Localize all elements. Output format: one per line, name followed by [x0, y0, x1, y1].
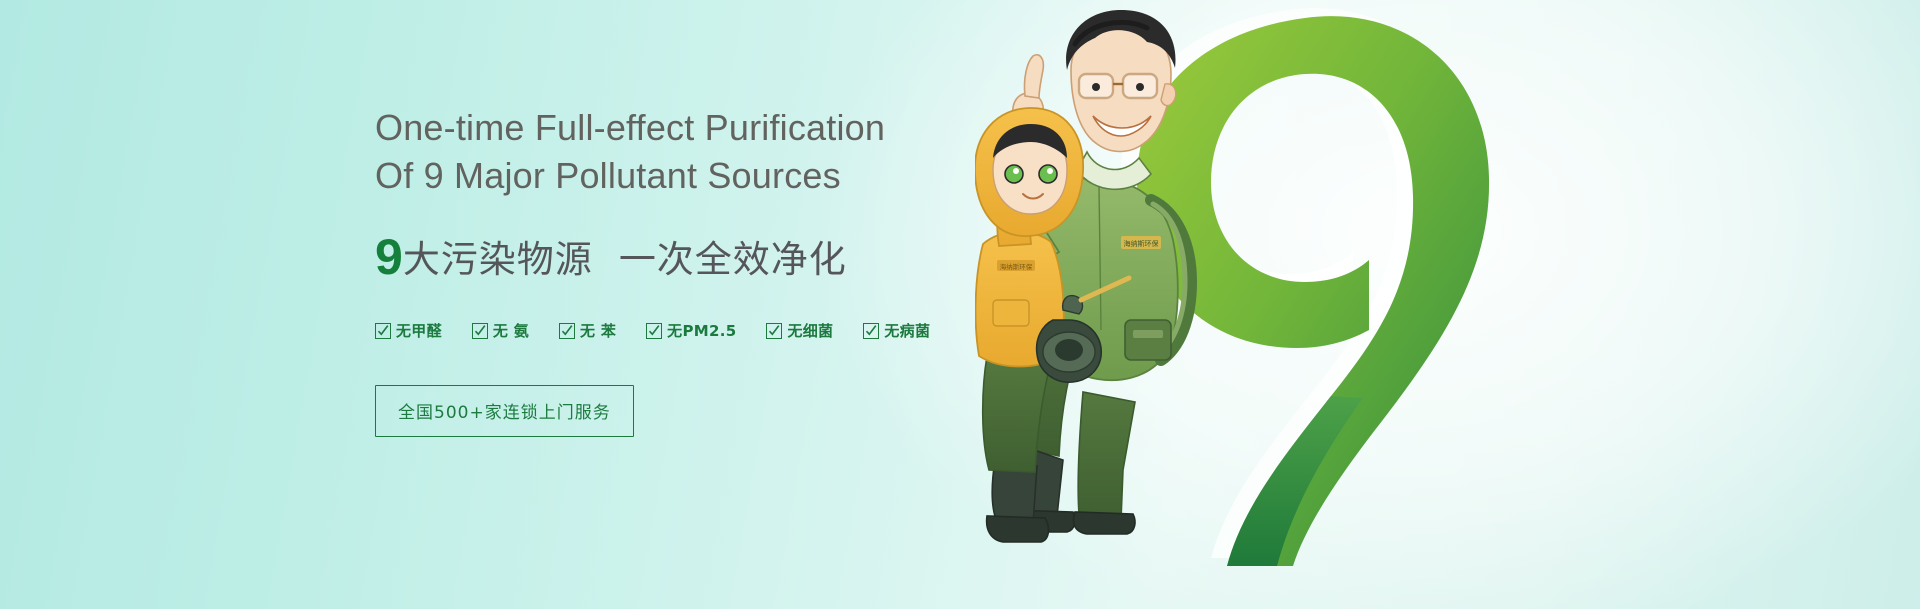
- check-box-icon: [766, 323, 782, 339]
- feature-badge: 无 苯: [559, 320, 616, 341]
- english-headline: One-time Full-effect Purification Of 9 M…: [375, 104, 1015, 200]
- service-cta-button[interactable]: 全国500+家连锁上门服务: [375, 385, 634, 437]
- feature-badge: 无 氨: [472, 320, 529, 341]
- feature-badge-label: 无 氨: [493, 320, 529, 341]
- feature-badge-list: 无甲醛 无 氨 无 苯 无PM2.5: [375, 320, 1015, 341]
- chinese-headline: 9大污染物源一次全效净化: [375, 232, 1015, 282]
- chinese-headline-number: 9: [375, 229, 403, 285]
- adult-badge-text: 海纳斯环保: [1124, 239, 1159, 248]
- illustration: 海纳斯环保: [975, 0, 1505, 609]
- check-box-icon: [863, 323, 879, 339]
- chinese-headline-part2: 一次全效净化: [619, 238, 847, 281]
- feature-badge-label: 无甲醛: [396, 320, 442, 341]
- child-badge-text: 海纳斯环保: [1000, 262, 1033, 271]
- promo-banner: One-time Full-effect Purification Of 9 M…: [0, 0, 1920, 609]
- check-box-icon: [646, 323, 662, 339]
- feature-badge: 无细菌: [766, 320, 833, 341]
- english-headline-line1: One-time Full-effect Purification: [375, 107, 885, 148]
- chinese-headline-part1: 大污染物源: [403, 238, 593, 281]
- feature-badge-label: 无PM2.5: [667, 320, 736, 341]
- check-box-icon: [559, 323, 575, 339]
- feature-badge-label: 无 苯: [580, 320, 616, 341]
- check-box-icon: [375, 323, 391, 339]
- check-box-icon: [472, 323, 488, 339]
- feature-badge-label: 无病菌: [884, 320, 930, 341]
- feature-badge: 无PM2.5: [646, 320, 736, 341]
- feature-badge: 无甲醛: [375, 320, 442, 341]
- banner-copy-block: One-time Full-effect Purification Of 9 M…: [375, 104, 1015, 437]
- feature-badge: 无病菌: [863, 320, 930, 341]
- english-headline-line2: Of 9 Major Pollutant Sources: [375, 152, 1015, 200]
- feature-badge-label: 无细菌: [787, 320, 833, 341]
